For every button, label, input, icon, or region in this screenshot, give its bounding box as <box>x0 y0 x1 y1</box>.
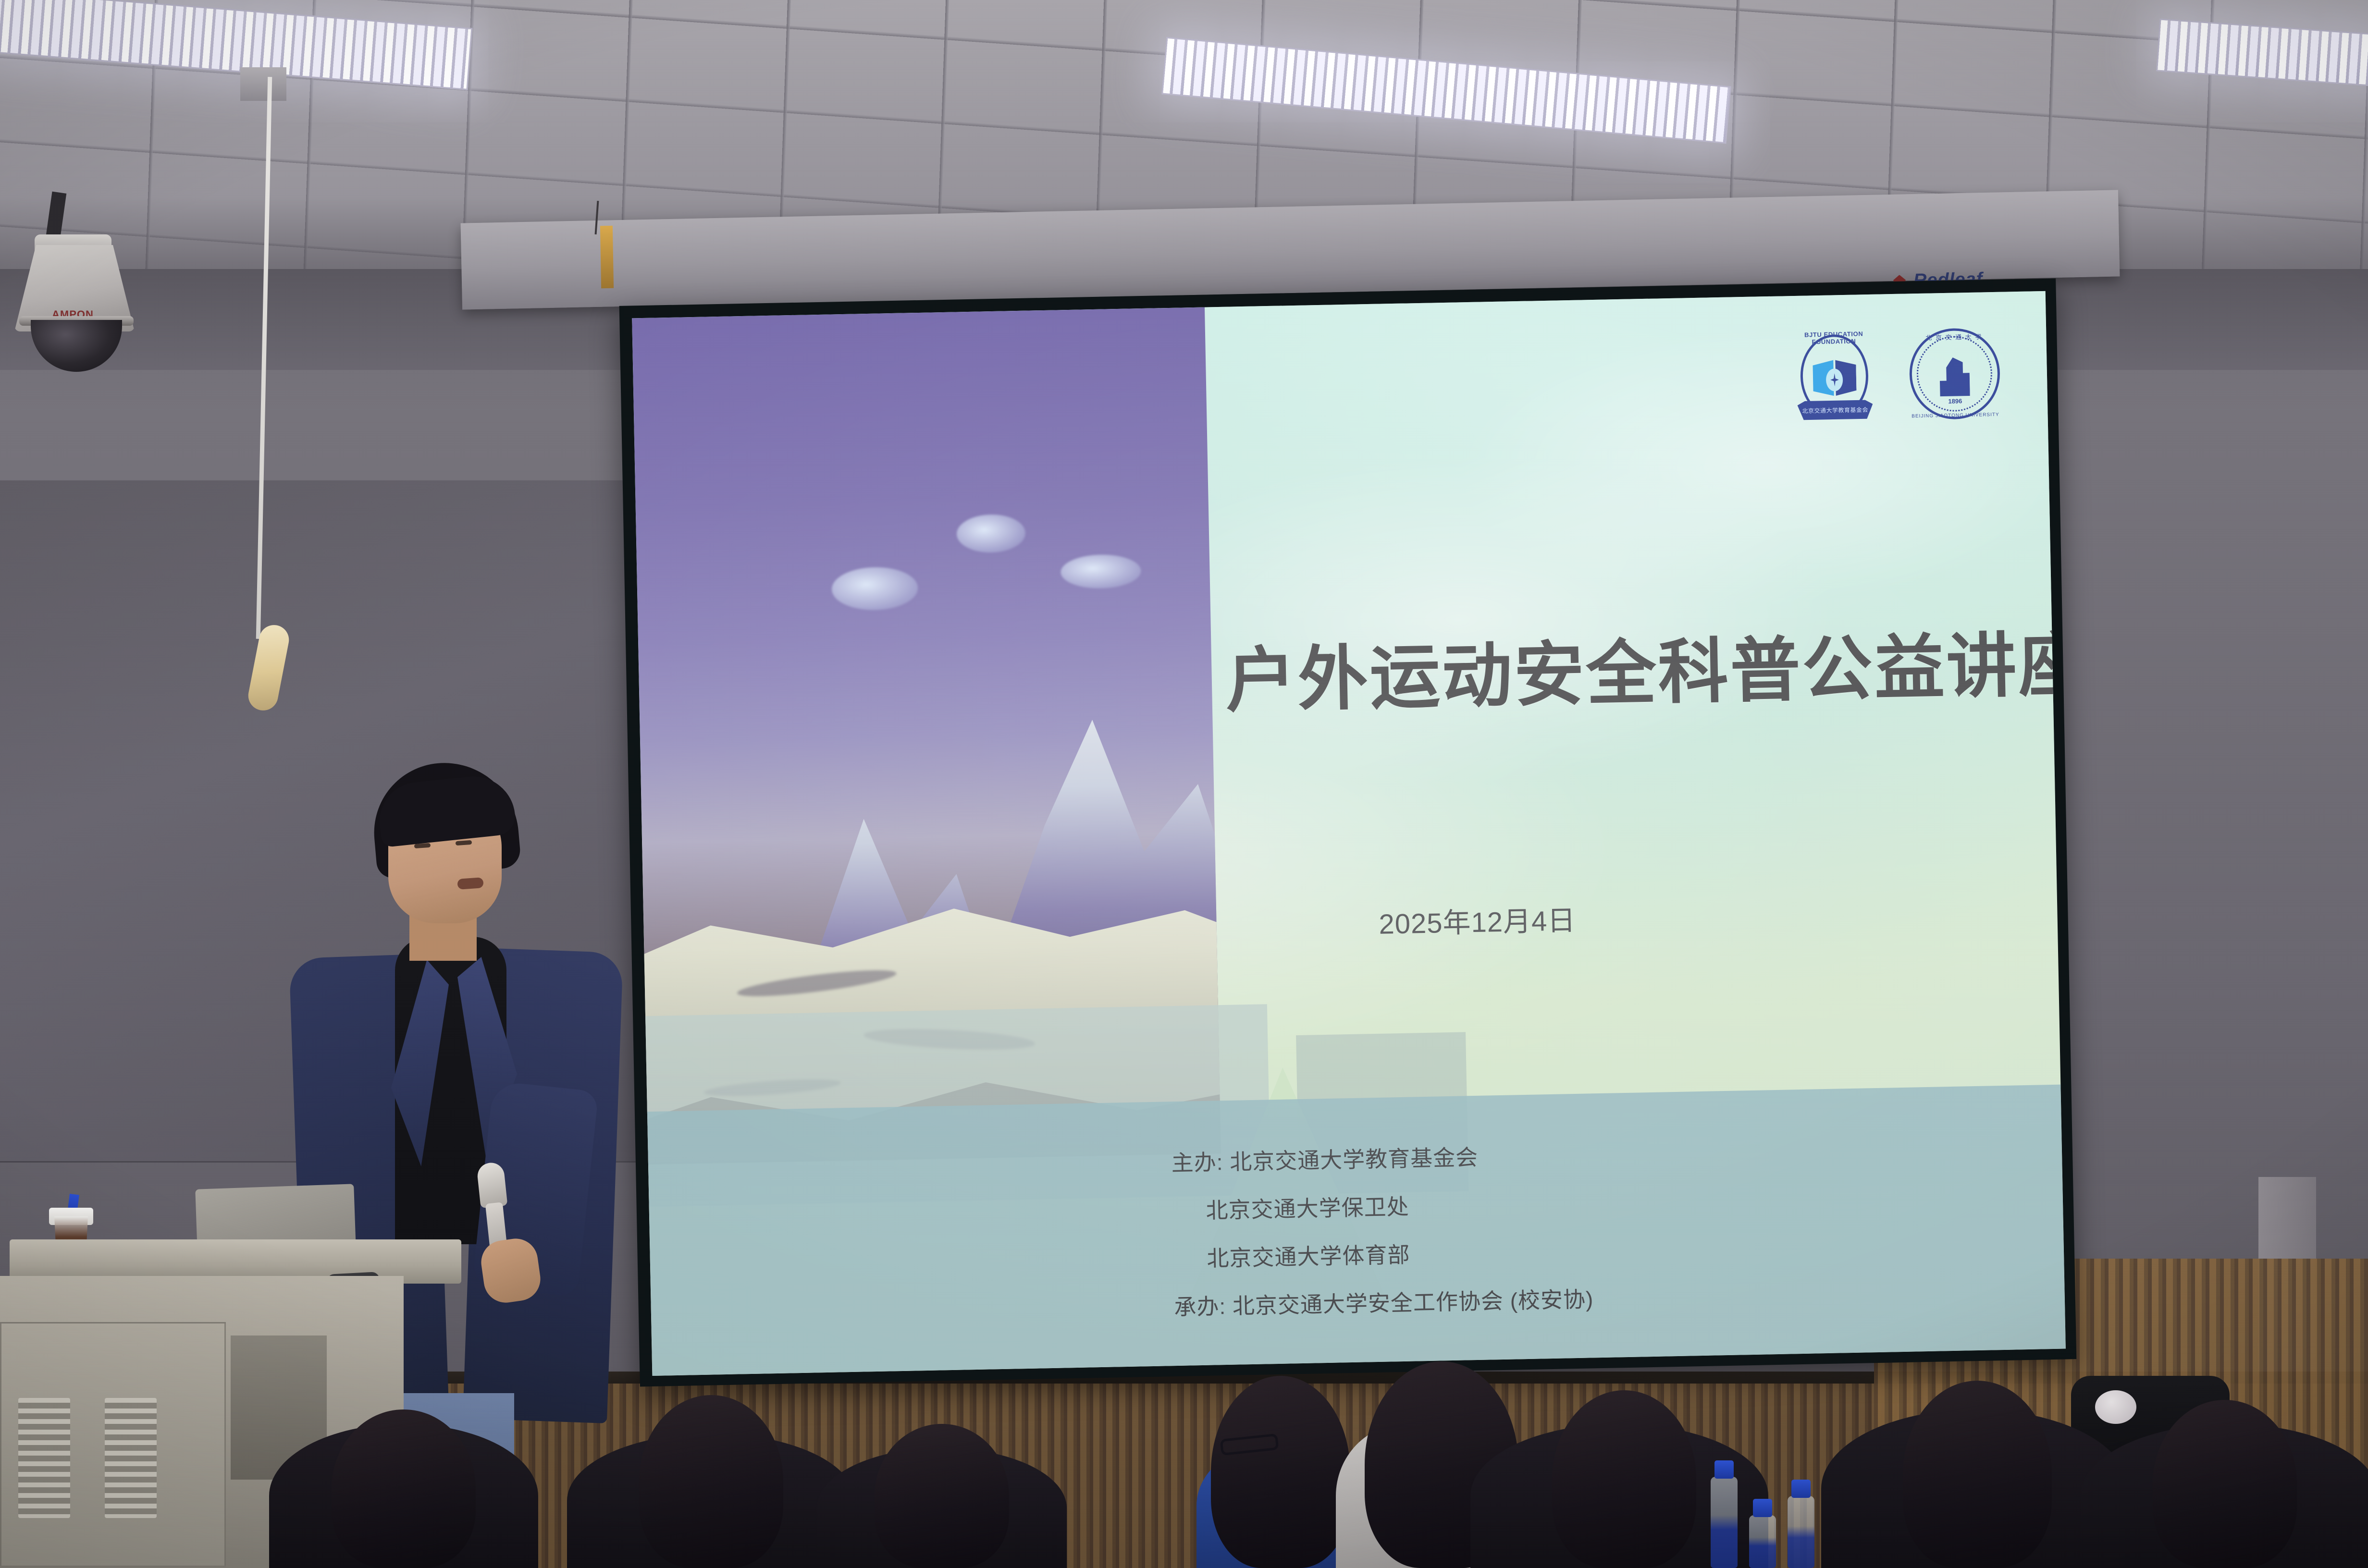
audience-head <box>639 1395 783 1568</box>
microphone-head <box>476 1162 507 1208</box>
bjtu-education-foundation-logo: BJTU EDUCATION FOUNDATION 北京交通大学教育基金会 <box>1787 328 1883 424</box>
speaker-mouth <box>457 877 483 890</box>
housing-yellow-tab <box>600 226 614 288</box>
slide-date: 2025年12月4日 <box>1379 898 1576 942</box>
camera-dome-lens <box>31 320 122 372</box>
logo-ribbon-label: 北京交通大学教育基金会 <box>1797 400 1873 420</box>
organizer-line: 主办: 北京交通大学教育基金会 <box>1171 1128 2062 1177</box>
organizer-line: 北京交通大学体育部 <box>1173 1225 2064 1274</box>
projection-screen: BJTU EDUCATION FOUNDATION 北京交通大学教育基金会 <box>619 279 2077 1387</box>
audience-head <box>1903 1381 2052 1568</box>
slide-title: 户外运动安全科普公益讲座 <box>1225 609 2011 725</box>
seal-bottom-text: BEIJING JIAOTONG UNIVERSITY <box>1908 412 2002 419</box>
logo-ribbon: 北京交通大学教育基金会 <box>1797 400 1873 420</box>
water-bottle <box>1788 1496 1814 1568</box>
seal-top-text: 北 京 交 通 大 学 <box>1907 331 2001 343</box>
ptz-dome-camera: AMPON <box>10 207 144 365</box>
bottle-cap <box>1791 1480 1811 1498</box>
beijing-jiaotong-university-seal: 北 京 交 通 大 学 1896 BEIJING JIAOTONG UNIVER… <box>1907 326 2003 422</box>
cloud <box>1061 554 1141 589</box>
audience-head <box>2153 1400 2297 1568</box>
water-bottle <box>1749 1515 1776 1568</box>
audience <box>0 1270 2368 1568</box>
organizer-line: 北京交通大学保卫处 <box>1172 1176 2063 1225</box>
logo-foundation-label: BJTU EDUCATION FOUNDATION <box>1787 330 1881 346</box>
audience-head <box>1552 1390 1696 1568</box>
presentation-slide: BJTU EDUCATION FOUNDATION 北京交通大学教育基金会 <box>632 291 2066 1376</box>
lecture-hall-photo: AMPON Redleaf <box>0 0 2368 1568</box>
audience-head <box>1211 1376 1350 1568</box>
cloud <box>831 567 918 611</box>
classroom: AMPON Redleaf <box>0 0 2368 1568</box>
water-bottle <box>1711 1477 1738 1568</box>
audience-head <box>332 1409 476 1568</box>
cloud <box>956 514 1025 553</box>
hair-scrunchie <box>2095 1390 2136 1424</box>
slide-logos: BJTU EDUCATION FOUNDATION 北京交通大学教育基金会 <box>1787 326 2003 424</box>
audience-head <box>875 1424 1009 1568</box>
cord-ceiling-mount <box>240 67 286 101</box>
bottle-cap <box>1753 1499 1772 1517</box>
bottle-cap <box>1714 1460 1734 1479</box>
